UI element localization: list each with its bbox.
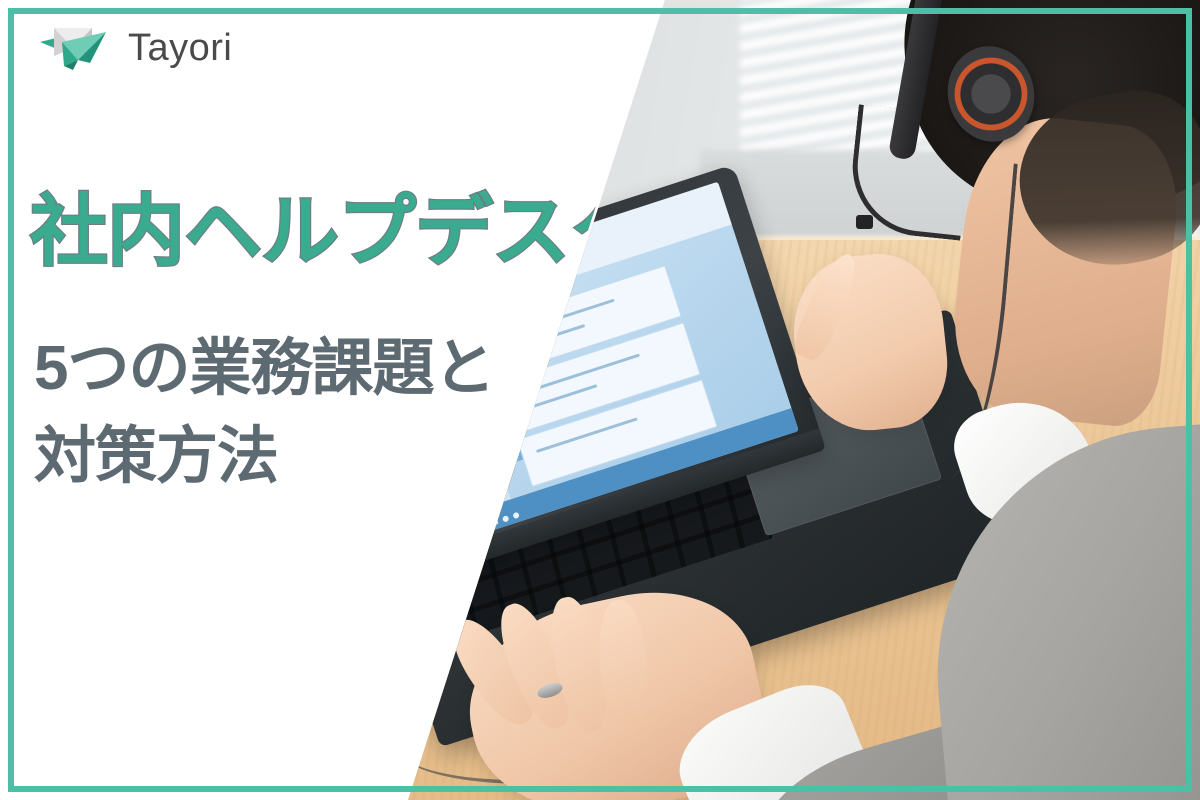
brand-logo[interactable]: Tayori — [40, 22, 232, 74]
subtitle-line-1: 5つの業務課題と — [34, 325, 594, 413]
page-title: 社内ヘルプデスク — [30, 190, 670, 273]
page-subtitle: 5つの業務課題と 対策方法 — [34, 325, 594, 501]
headset-microphone-tip — [856, 215, 873, 229]
banner-root: Tayori 社内ヘルプデスク 5つの業務課題と 対策方法 — [0, 0, 1200, 800]
brand-wordmark: Tayori — [128, 29, 232, 67]
paper-plane-envelope-icon — [40, 22, 114, 74]
